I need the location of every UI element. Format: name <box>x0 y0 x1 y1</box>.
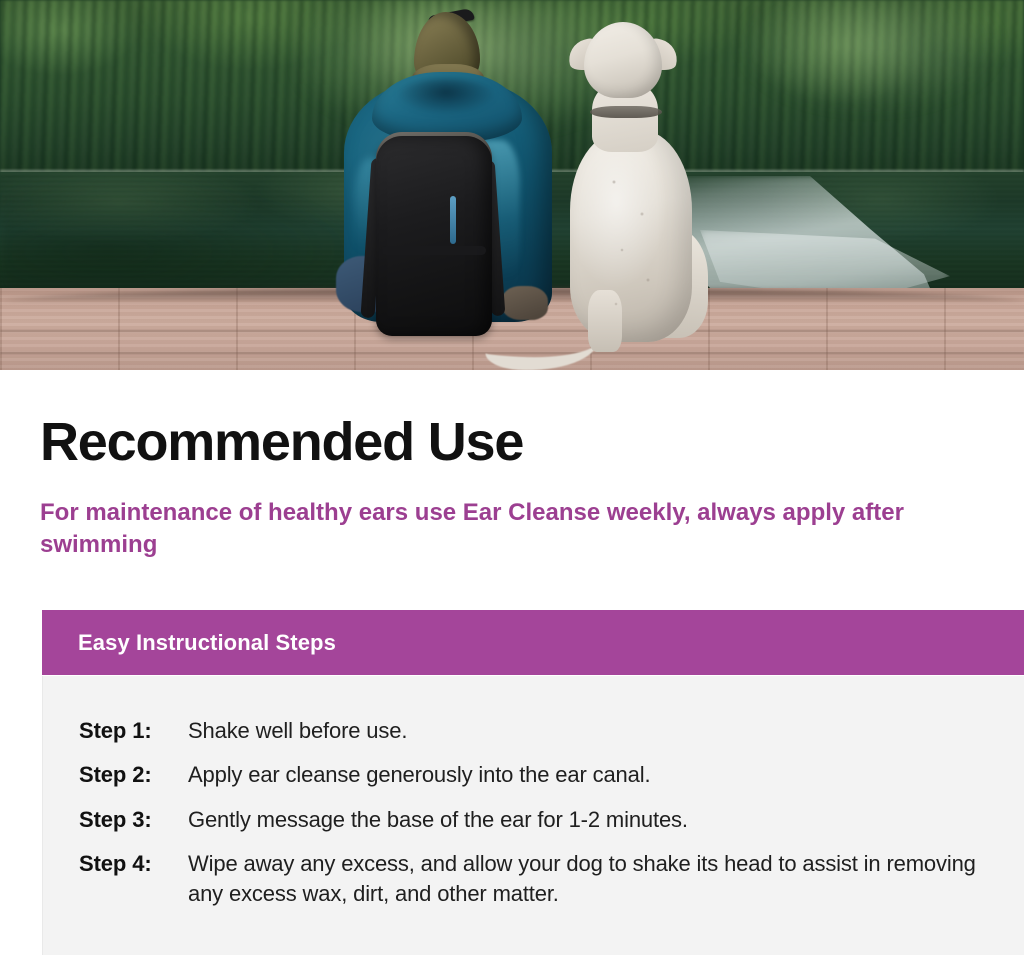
page-title: Recommended Use <box>40 415 523 469</box>
step-label: Step 3: <box>79 805 188 835</box>
step-text: Gently message the base of the ear for 1… <box>188 805 999 835</box>
steps-card-header-label: Easy Instructional Steps <box>78 610 336 675</box>
lake-dock-photo <box>0 0 1024 370</box>
backpack-zipper <box>450 196 456 244</box>
forest-light-patch-right <box>740 0 1000 110</box>
water-dark-area <box>0 176 360 302</box>
dog-head <box>584 22 662 98</box>
dog-tail <box>485 319 599 370</box>
step-label: Step 1: <box>79 716 188 746</box>
instructional-steps-card: Easy Instructional Steps Step 1: Shake w… <box>42 610 1024 955</box>
steps-list: Step 1: Shake well before use. Step 2: A… <box>79 716 999 910</box>
list-item: Step 4: Wipe away any excess, and allow … <box>79 849 999 910</box>
backpack <box>376 136 492 336</box>
backpack-compression-strap <box>382 246 486 255</box>
dog-coat-spots <box>602 172 662 322</box>
list-item: Step 2: Apply ear cleanse generously int… <box>79 760 999 790</box>
page-root: Recommended Use For maintenance of healt… <box>0 0 1024 960</box>
steps-card-header: Easy Instructional Steps <box>42 610 1024 675</box>
steps-card-body: Step 1: Shake well before use. Step 2: A… <box>42 676 1024 955</box>
content-section: Recommended Use For maintenance of healt… <box>0 370 1024 960</box>
step-text: Apply ear cleanse generously into the ea… <box>188 760 999 790</box>
step-label: Step 2: <box>79 760 188 790</box>
dog-figure <box>540 22 720 370</box>
hero-photo-banner <box>0 0 1024 370</box>
list-item: Step 1: Shake well before use. <box>79 716 999 746</box>
dog-collar <box>590 106 662 118</box>
page-subtitle: For maintenance of healthy ears use Ear … <box>40 497 940 560</box>
step-text: Wipe away any excess, and allow your dog… <box>188 849 999 910</box>
list-item: Step 3: Gently message the base of the e… <box>79 805 999 835</box>
hood-inner-shadow <box>396 78 496 114</box>
step-label: Step 4: <box>79 849 188 879</box>
step-text: Shake well before use. <box>188 716 999 746</box>
